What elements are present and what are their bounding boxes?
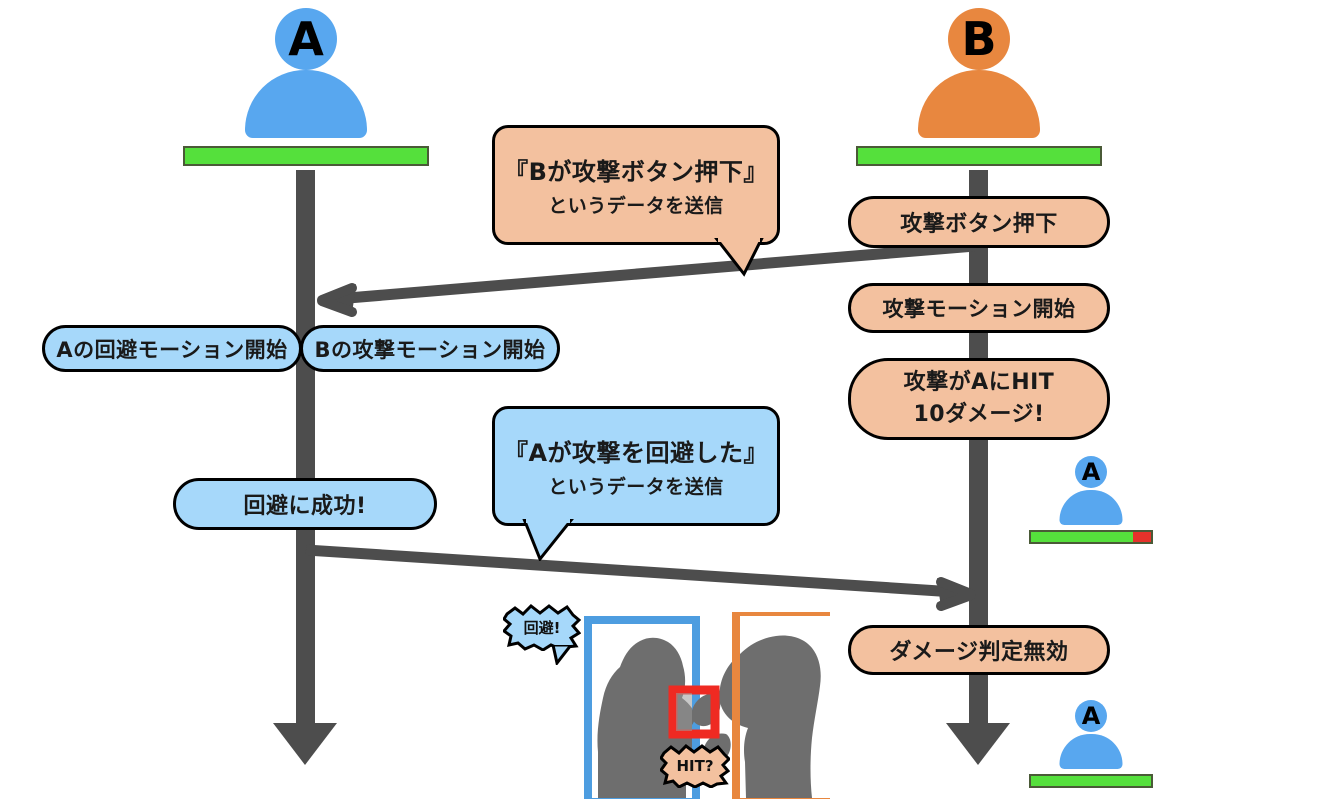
hp-green-fill <box>1031 776 1151 786</box>
avatar-a-head: A <box>1075 456 1107 488</box>
bubble-tail-blue <box>510 519 590 561</box>
hp-green-fill <box>185 148 427 164</box>
avatar-a-body <box>245 70 367 138</box>
node-label: Bの攻撃モーション開始 <box>314 334 545 364</box>
avatar-player-a-restored: A <box>1029 700 1153 792</box>
node-label: 攻撃ボタン押下 <box>900 206 1058 238</box>
message-bubble-b-pressed-attack: 『Bが攻撃ボタン押下』 というデータを送信 <box>492 125 780 245</box>
bubble-line-2: というデータを送信 <box>548 191 724 218</box>
avatar-player-b-top: B <box>856 4 1102 169</box>
diagram-canvas: A B 『Bが攻撃ボタン押下』 というデータを送信 『Aが攻撃を回避した』 とい… <box>0 0 1341 799</box>
node-b-damage-void[interactable]: ダメージ判定無効 <box>848 625 1110 675</box>
timeline-a-arrowhead <box>273 723 337 765</box>
avatar-player-a-damaged: A <box>1029 456 1153 548</box>
hp-green-fill <box>1031 532 1133 542</box>
node-b-button-press[interactable]: 攻撃ボタン押下 <box>848 196 1110 248</box>
avatar-a-body <box>1060 734 1123 769</box>
node-label: Aの回避モーション開始 <box>56 334 287 364</box>
avatar-a-head: A <box>1075 700 1107 732</box>
bubble-tail-orange <box>700 238 780 278</box>
burst-dodge-tail <box>551 645 577 665</box>
node-b-attack-hit[interactable]: 攻撃がAにHIT 10ダメージ! <box>848 358 1110 440</box>
burst-dodge-label: 回避! <box>524 617 561 638</box>
node-b-attack-motion[interactable]: 攻撃モーション開始 <box>848 283 1110 333</box>
burst-hit-label: HIT? <box>676 757 713 775</box>
attack-hitbox-shade <box>676 693 692 731</box>
node-label: 攻撃モーション開始 <box>882 293 1075 323</box>
node-a-dodge-success[interactable]: 回避に成功! <box>173 478 437 530</box>
node-label-line-1: 攻撃がAにHIT <box>904 367 1055 399</box>
node-label: 回避に成功! <box>243 488 366 520</box>
arrow-a-to-b <box>306 550 975 608</box>
avatar-a-hp-bar <box>183 146 429 166</box>
timeline-b-arrowhead <box>946 723 1010 765</box>
avatar-b-hp-bar <box>856 146 1102 166</box>
avatar-a-hp-bar-damaged <box>1029 530 1153 544</box>
avatar-a-body <box>1060 490 1123 525</box>
bubble-line-2: というデータを送信 <box>548 472 724 499</box>
avatar-player-a-top: A <box>183 4 429 169</box>
avatar-a-hp-bar-restored <box>1029 774 1153 788</box>
avatar-b-body <box>918 70 1040 138</box>
hp-red-fill <box>1133 532 1151 542</box>
timeline-a <box>296 170 315 735</box>
bubble-line-1: 『Aが攻撃を回避した』 <box>504 433 768 468</box>
message-bubble-a-dodged: 『Aが攻撃を回避した』 というデータを送信 <box>492 406 780 526</box>
avatar-b-head: B <box>948 8 1010 70</box>
hp-green-fill <box>858 148 1100 164</box>
node-a-dodge-motion[interactable]: Aの回避モーション開始 <box>42 325 302 372</box>
node-label: ダメージ判定無効 <box>890 634 1069 666</box>
avatar-a-head: A <box>275 8 337 70</box>
node-b-attack-motion-on-a[interactable]: Bの攻撃モーション開始 <box>300 325 560 372</box>
burst-hit: HIT? <box>660 744 730 788</box>
node-label-line-2: 10ダメージ! <box>913 399 1044 431</box>
bubble-line-1: 『Bが攻撃ボタン押下』 <box>504 152 768 187</box>
burst-dodge: 回避! <box>503 604 581 651</box>
